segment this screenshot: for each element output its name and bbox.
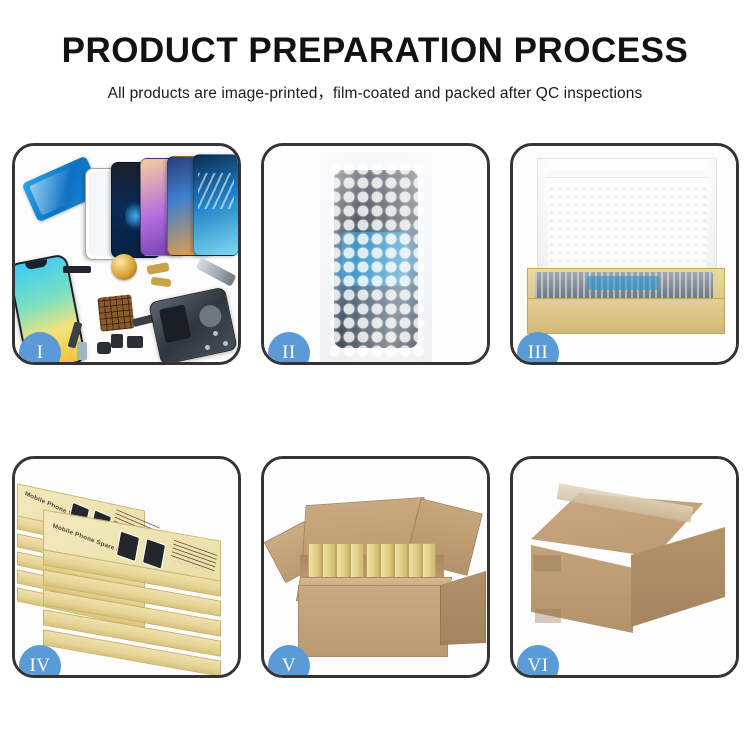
screw-mat-icon <box>97 294 134 331</box>
foam-liner <box>548 185 706 271</box>
step-panel-4: Mobile Phone Spare Parts Mobile Phone Sp… <box>12 456 241 678</box>
yellow-box-front <box>527 298 725 334</box>
gold-connector-icon <box>146 262 169 275</box>
small-part-icon <box>127 336 143 348</box>
step-3-illustration <box>513 146 736 362</box>
phone-screen-cyan <box>193 154 238 256</box>
screw-icon <box>205 345 210 350</box>
step-panel-2: II <box>261 143 490 365</box>
camera-module-icon <box>97 342 111 354</box>
page-title: PRODUCT PREPARATION PROCESS <box>0 33 750 70</box>
earpiece-mesh-icon <box>63 266 91 273</box>
phone-screen-fan <box>85 154 235 262</box>
step-panel-6: VI <box>510 456 739 678</box>
white-box-lid <box>537 158 717 278</box>
carton-front-face <box>298 585 448 657</box>
small-part-icon <box>111 334 123 348</box>
phone-graphic <box>116 530 140 562</box>
step-panel-5: V <box>261 456 490 678</box>
bubble-wrap-sheet <box>320 152 432 362</box>
screw-icon <box>223 341 228 346</box>
retail-box-stack: Mobile Phone Spare Parts Mobile Phone Sp… <box>15 459 238 675</box>
spec-lines <box>171 540 218 574</box>
step-5-illustration <box>264 459 487 675</box>
plastic-sheen <box>320 152 432 362</box>
steps-grid: I II III <box>12 143 738 678</box>
step-panel-1: I <box>12 143 241 365</box>
tape-tab-icon <box>533 555 561 571</box>
step-panel-3: III <box>510 143 739 365</box>
screw-icon <box>213 331 218 336</box>
step-4-illustration: Mobile Phone Spare Parts Mobile Phone Sp… <box>15 459 238 675</box>
gold-connector-icon <box>151 277 172 288</box>
step-6-illustration <box>513 459 736 675</box>
page-subtitle: All products are image-printed，film-coat… <box>0 81 750 103</box>
infographic-page: PRODUCT PREPARATION PROCESS All products… <box>0 0 750 750</box>
step-1-illustration <box>15 146 238 362</box>
phone-chassis-icon <box>148 287 238 362</box>
header: PRODUCT PREPARATION PROCESS All products… <box>0 0 750 103</box>
wrapped-parts-in-box <box>535 272 713 300</box>
tape-tab-icon <box>535 609 561 623</box>
step-2-illustration <box>264 146 487 362</box>
phone-graphic <box>142 538 166 570</box>
sim-tray-icon <box>77 342 87 360</box>
gold-speaker-coil-icon <box>111 254 137 280</box>
